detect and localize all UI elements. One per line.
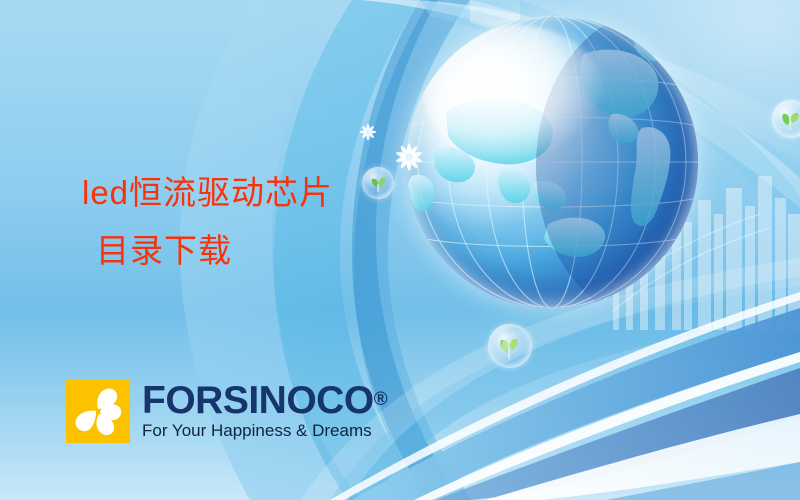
- headline-line1: led恒流驱动芯片: [82, 174, 333, 211]
- bubble-leaf-bottom: [488, 324, 532, 368]
- brand-name: FORSINOCO®: [142, 381, 387, 420]
- earth-globe: [406, 16, 698, 308]
- headline-line2: 目录下载: [82, 222, 412, 280]
- bubble-leaf-right: [772, 100, 800, 138]
- brand-tagline: For Your Happiness & Dreams: [142, 421, 387, 441]
- pinwheel-petals-mark-icon: [66, 379, 130, 443]
- company-logo: FORSINOCO® For Your Happiness & Dreams: [66, 379, 387, 443]
- white-flower-small-icon: [357, 121, 379, 148]
- globe-rim: [406, 16, 698, 308]
- headline-text: led恒流驱动芯片 目录下载: [82, 164, 412, 280]
- promo-banner: led恒流驱动芯片 目录下载 FORSINOCO® For Your Happi…: [0, 0, 800, 500]
- brand-name-text: FORSINOCO: [142, 379, 374, 422]
- logo-wordmark: FORSINOCO® For Your Happiness & Dreams: [142, 381, 387, 441]
- registered-trademark-icon: ®: [374, 389, 388, 410]
